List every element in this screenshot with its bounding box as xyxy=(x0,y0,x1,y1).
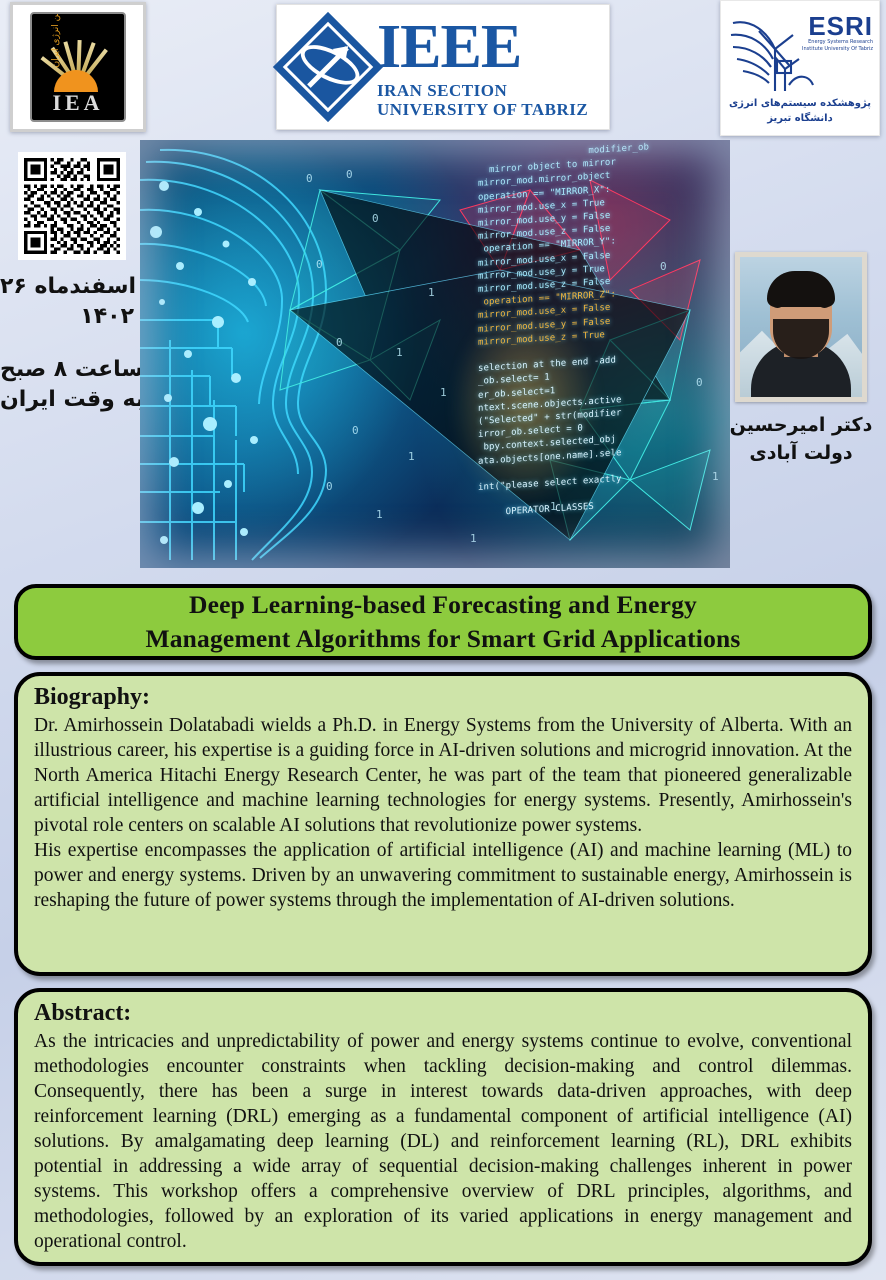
ieee-wordmark: IEEE xyxy=(377,16,588,78)
ieee-section-label: IRAN SECTION xyxy=(377,82,588,99)
iea-logo: انجمن انرژی ایران IEA xyxy=(10,2,146,132)
hero-image: modifier_ob mirror object to mirror mirr… xyxy=(140,140,730,568)
esri-wordmark: ESRI xyxy=(808,11,873,42)
photo-eye-right xyxy=(820,303,829,308)
photo-eye-left xyxy=(773,303,782,308)
speaker-photo-frame xyxy=(735,252,867,402)
event-date-line2: ۱۴۰۲ xyxy=(0,302,134,332)
talk-title-line1: Deep Learning-based Forecasting and Ener… xyxy=(145,588,740,622)
speaker-photo xyxy=(740,257,862,397)
abstract-heading: Abstract: xyxy=(34,1000,852,1027)
abstract-paragraph-1: As the intricacies and unpredictability … xyxy=(34,1029,852,1254)
biography-heading: Biography: xyxy=(34,684,852,711)
abstract-section: Abstract: As the intricacies and unpredi… xyxy=(14,988,872,1266)
ieee-university-label: UNIVERSITY OF TABRIZ xyxy=(377,101,588,118)
biography-paragraph-2: His expertise encompasses the applicatio… xyxy=(34,838,852,913)
talk-title-line2: Management Algorithms for Smart Grid App… xyxy=(145,622,740,656)
event-datetime: ۲۶ اسفندماه ۱۴۰۲ ساعت ۸ صبح به وقت ایران xyxy=(0,272,140,415)
ieee-orbit-icon xyxy=(295,37,366,93)
qr-code-icon xyxy=(24,158,120,254)
biography-paragraph-1: Dr. Amirhossein Dolatabadi wields a Ph.D… xyxy=(34,713,852,838)
esri-persian-line2: دانشگاه تبریز xyxy=(767,112,832,127)
iea-logo-art: انجمن انرژی ایران IEA xyxy=(30,12,126,122)
photo-hair xyxy=(767,271,835,307)
iea-persian-label: انجمن انرژی ایران xyxy=(51,12,61,73)
speaker-block: دکتر امیرحسین دولت آبادی xyxy=(722,252,880,467)
esri-logo: ESRI Energy Systems Research Institute U… xyxy=(720,0,880,136)
iea-acronym: IEA xyxy=(32,90,124,116)
speaker-name-line1: دکتر امیرحسین xyxy=(722,412,880,440)
biography-section: Biography: Dr. Amirhossein Dolatabadi wi… xyxy=(14,672,872,976)
event-time-line2: به وقت ایران xyxy=(0,385,134,415)
talk-title-banner: Deep Learning-based Forecasting and Ener… xyxy=(14,584,872,660)
speaker-name-line2: دولت آبادی xyxy=(722,440,880,468)
poster-root: انجمن انرژی ایران IEA IEEE IRAN SECTION … xyxy=(0,0,886,1280)
hero-vignette xyxy=(140,140,730,568)
event-date-line1: ۲۶ اسفندماه xyxy=(0,272,134,302)
event-time-line1: ساعت ۸ صبح xyxy=(0,355,134,385)
esri-tagline: Energy Systems Research Institute Univer… xyxy=(797,39,873,53)
ieee-logo: IEEE IRAN SECTION UNIVERSITY OF TABRIZ xyxy=(276,4,610,130)
esri-persian-line1: پژوهشکده سیستم‌های انرژی xyxy=(729,97,871,112)
ieee-diamond-icon xyxy=(273,12,383,122)
logo-row: انجمن انرژی ایران IEA IEEE IRAN SECTION … xyxy=(0,0,886,138)
qr-code[interactable] xyxy=(18,152,126,260)
